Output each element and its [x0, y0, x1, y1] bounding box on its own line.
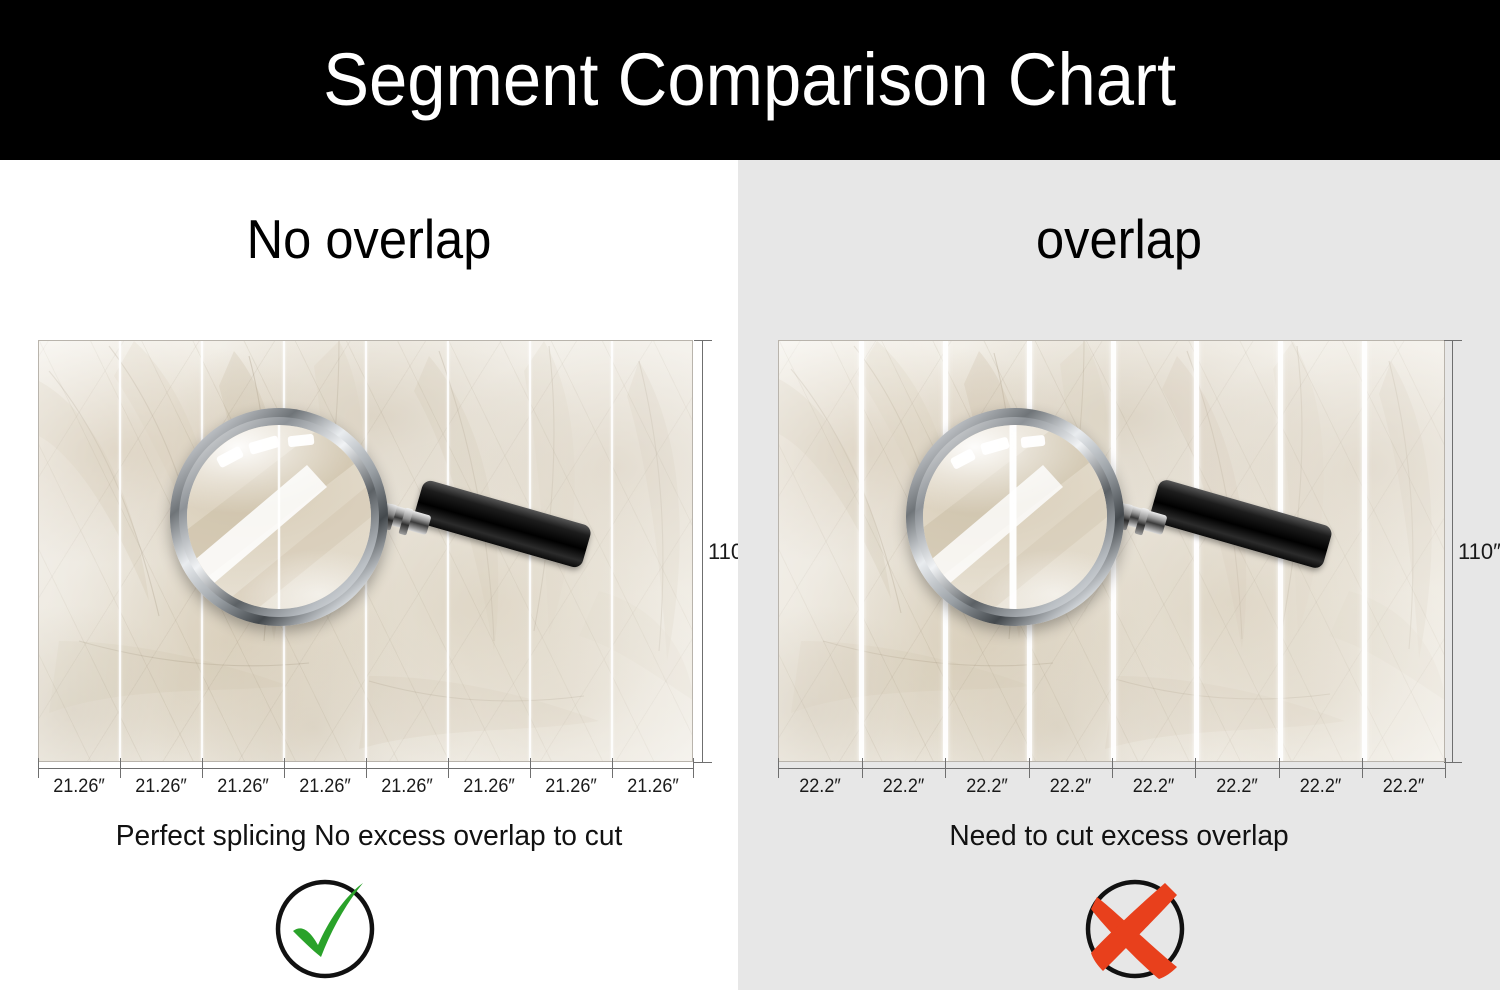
lens-content — [187, 425, 371, 609]
wallpaper-preview-overlap — [778, 340, 1445, 762]
segment-label: 22.2″ — [1364, 776, 1443, 798]
segment-label: 21.26″ — [286, 776, 364, 798]
red-cross-svg — [1081, 875, 1189, 983]
segment-label: 21.26″ — [204, 776, 282, 798]
segment-label: 22.2″ — [1281, 776, 1360, 798]
page-title: Segment Comparison Chart — [323, 43, 1176, 117]
wallpaper-preview-no-overlap — [38, 340, 693, 762]
comparison-chart-page: Segment Comparison Chart No overlap — [0, 0, 1500, 990]
segment-label: 21.26″ — [40, 776, 118, 798]
height-label: 110″ — [1458, 539, 1500, 565]
magnifying-glass-icon — [170, 408, 670, 628]
segment-label: 22.2″ — [1197, 776, 1277, 798]
segment-label: 22.2″ — [947, 776, 1027, 798]
segment-label: 22.2″ — [780, 776, 860, 798]
panel-heading-no-overlap: No overlap — [30, 212, 709, 267]
magnifying-glass-icon — [906, 408, 1416, 628]
lens-content — [923, 425, 1107, 609]
segment-label: 21.26″ — [532, 776, 610, 798]
segment-label: 22.2″ — [1031, 776, 1110, 798]
panel-overlap: overlap — [738, 160, 1500, 990]
segment-label: 21.26″ — [368, 776, 446, 798]
segment-label: 21.26″ — [450, 776, 528, 798]
red-cross-icon — [1081, 875, 1189, 983]
panel-heading-overlap: overlap — [768, 212, 1469, 267]
page-title-bar: Segment Comparison Chart — [0, 0, 1500, 160]
caption-overlap: Need to cut excess overlap — [749, 820, 1488, 853]
segment-label: 22.2″ — [864, 776, 943, 798]
panel-no-overlap: No overlap — [0, 160, 738, 990]
segment-label: 21.26″ — [122, 776, 200, 798]
caption-no-overlap: Perfect splicing No excess overlap to cu… — [11, 820, 727, 853]
green-check-svg — [271, 875, 379, 983]
green-check-icon — [271, 875, 379, 983]
segment-label: 22.2″ — [1114, 776, 1193, 798]
segment-label: 21.26″ — [614, 776, 692, 798]
